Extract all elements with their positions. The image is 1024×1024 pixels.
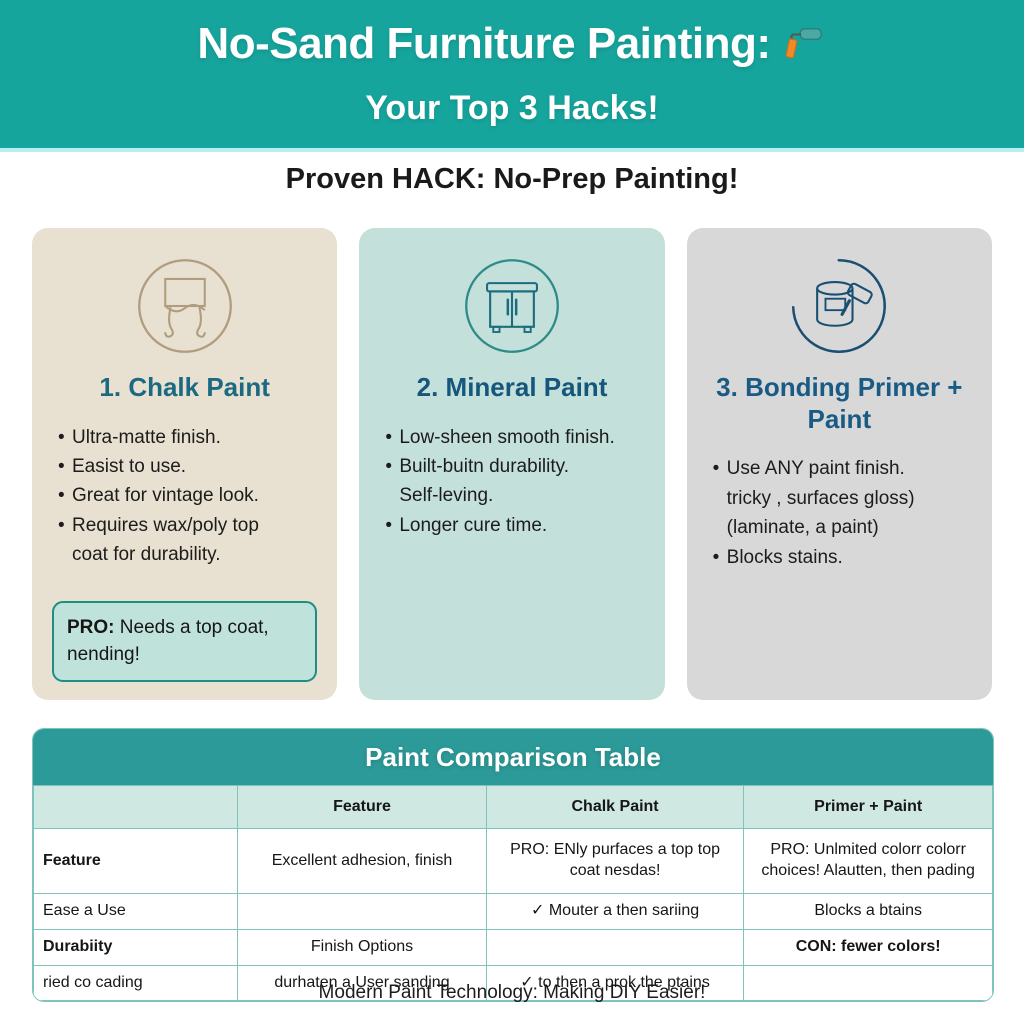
card-mineral-paint: 2. Mineral Paint •Low-sheen smooth finis… xyxy=(359,228,664,700)
header-title-row: No-Sand Furniture Painting: xyxy=(0,21,1024,69)
table-body: Feature Excellent adhesion, finish PRO: … xyxy=(34,829,993,1001)
card-bullet-list: •Low-sheen smooth finish. •Built-buitn d… xyxy=(379,424,644,541)
table-head: Feature Chalk Paint Primer + Paint xyxy=(34,786,993,829)
bullet-text: tricky , surfaces gloss) xyxy=(727,485,915,512)
table-cell: Finish Options xyxy=(238,929,487,965)
paint-can-roller-icon xyxy=(787,254,891,358)
list-item: •Great for vintage look. xyxy=(58,482,317,509)
list-item-continuation: •tricky , surfaces gloss) xyxy=(713,485,972,512)
table-title: Paint Comparison Table xyxy=(33,729,993,785)
bullet-text: Longer cure time. xyxy=(399,512,547,539)
list-item: •Easist to use. xyxy=(58,453,317,480)
bullet-text: Built-buitn durability. xyxy=(399,453,569,480)
bullet-text: Self-leving. xyxy=(399,482,493,509)
bullet-dot: • xyxy=(58,512,72,539)
bullet-text: Blocks stains. xyxy=(727,544,843,571)
comparison-table: Feature Chalk Paint Primer + Paint Featu… xyxy=(33,785,993,1001)
bullet-dot: • xyxy=(58,482,72,509)
list-item-continuation: •Self-leving. xyxy=(385,482,644,509)
table-cell: CON: fewer colors! xyxy=(744,929,993,965)
bullet-dot: • xyxy=(713,455,727,482)
list-item: •Ultra-matte finish. xyxy=(58,424,317,451)
bullet-dot: • xyxy=(713,544,727,571)
card-bonding-primer-paint: 3. Bonding Primer + Paint •Use ANY paint… xyxy=(687,228,992,700)
table-row: Feature Excellent adhesion, finish PRO: … xyxy=(34,829,993,894)
bullet-dot: • xyxy=(385,453,399,480)
table-cell xyxy=(486,929,744,965)
card-title: 2. Mineral Paint xyxy=(417,372,608,404)
bullet-text: Low-sheen smooth finish. xyxy=(399,424,614,451)
card-title: 1. Chalk Paint xyxy=(99,372,270,404)
bullet-text: coat for durability. xyxy=(72,541,221,568)
card-chalk-paint: 1. Chalk Paint •Ultra-matte finish. •Eas… xyxy=(32,228,337,700)
table-row: Durabiity Finish Options CON: fewer colo… xyxy=(34,929,993,965)
list-item: •Longer cure time. xyxy=(385,512,644,539)
bullet-text: Requires wax/poly top xyxy=(72,512,259,539)
column-header-feature: Feature xyxy=(238,786,487,829)
bullet-dot: • xyxy=(58,424,72,451)
page-title: No-Sand Furniture Painting: xyxy=(197,21,770,67)
table-cell: Feature xyxy=(34,829,238,894)
table-cell: ✓ Mouter a then sariing xyxy=(486,894,744,930)
card-bullet-list: •Use ANY paint finish. •tricky , surface… xyxy=(707,455,972,572)
list-item: •Built-buitn durability. xyxy=(385,453,644,480)
bullet-text: Ultra-matte finish. xyxy=(72,424,221,451)
column-header-chalk-paint: Chalk Paint xyxy=(486,786,744,829)
header-divider xyxy=(0,148,1024,152)
list-item: •Use ANY paint finish. xyxy=(713,455,972,482)
table-cell: Blocks a btains xyxy=(744,894,993,930)
paint-comparison-table: Paint Comparison Table Feature Chalk Pai… xyxy=(32,728,994,1002)
cabinet-icon xyxy=(460,254,564,358)
card-title: 3. Bonding Primer + Paint xyxy=(707,372,972,435)
list-item: •Low-sheen smooth finish. xyxy=(385,424,644,451)
bullet-text: Use ANY paint finish. xyxy=(727,455,905,482)
page-subtitle: Your Top 3 Hacks! xyxy=(365,89,658,128)
bullet-text: (laminate, a paint) xyxy=(727,514,879,541)
column-header-blank xyxy=(34,786,238,829)
footer-note: Modern Paint Technology: Making DIY Easi… xyxy=(0,982,1024,1004)
table-cell: PRO: Unlmited colorr colorr choices! Ala… xyxy=(744,829,993,894)
chair-furniture-icon xyxy=(133,254,237,358)
table-cell xyxy=(238,894,487,930)
table-header-row: Feature Chalk Paint Primer + Paint xyxy=(34,786,993,829)
cards-row: 1. Chalk Paint •Ultra-matte finish. •Eas… xyxy=(32,228,992,700)
list-item-continuation: •(laminate, a paint) xyxy=(713,514,972,541)
card-bullet-list: •Ultra-matte finish. •Easist to use. •Gr… xyxy=(52,424,317,571)
pro-label: PRO: xyxy=(67,617,115,638)
bullet-text: Easist to use. xyxy=(72,453,186,480)
list-item: •Blocks stains. xyxy=(713,544,972,571)
section-heading: Proven HACK: No-Prep Painting! xyxy=(0,163,1024,196)
column-header-primer-paint: Primer + Paint xyxy=(744,786,993,829)
list-item-continuation: •coat for durability. xyxy=(58,541,317,568)
paint-roller-icon xyxy=(781,23,827,69)
bullet-dot: • xyxy=(385,512,399,539)
table-cell: Ease a Use xyxy=(34,894,238,930)
table-cell: Excellent adhesion, finish xyxy=(238,829,487,894)
table-row: Ease a Use ✓ Mouter a then sariing Block… xyxy=(34,894,993,930)
header-banner: No-Sand Furniture Painting: Your Top 3 H… xyxy=(0,0,1024,148)
bullet-text: Great for vintage look. xyxy=(72,482,259,509)
bullet-dot: • xyxy=(58,453,72,480)
bullet-dot: • xyxy=(385,424,399,451)
table-cell: Durabiity xyxy=(34,929,238,965)
list-item: •Requires wax/poly top xyxy=(58,512,317,539)
table-cell: PRO: ENly purfaces a top top coat nesdas… xyxy=(486,829,744,894)
pro-callout: PRO: Needs a top coat, nending! xyxy=(52,601,317,682)
